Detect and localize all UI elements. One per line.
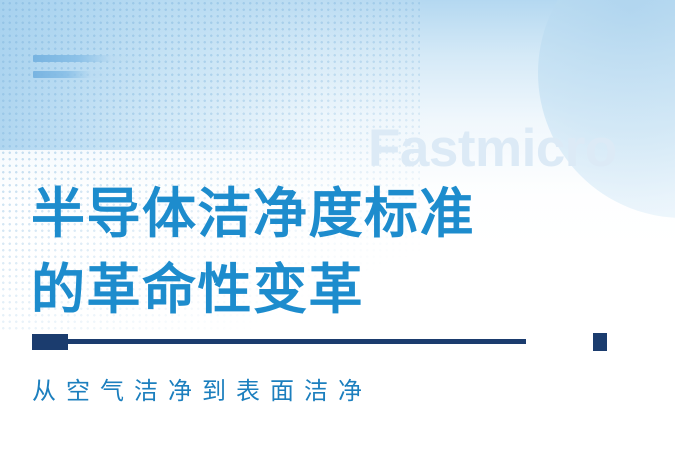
background-gradient-left <box>0 0 430 150</box>
page-title: 半导体洁净度标准 的革命性变革 <box>31 176 475 328</box>
decorative-circle <box>538 0 675 218</box>
divider-dash <box>593 333 607 351</box>
brand-watermark: Fastmicro <box>368 122 617 175</box>
title-card: Fastmicro 半导体洁净度标准 的革命性变革 从空气洁净到表面洁净 <box>0 0 675 455</box>
divider <box>32 333 607 351</box>
decorative-bar-top <box>33 55 139 62</box>
decorative-bars <box>33 55 139 78</box>
page-subtitle: 从空气洁净到表面洁净 <box>32 375 372 409</box>
divider-block <box>32 334 68 350</box>
page-title-line-2: 的革命性变革 <box>31 252 475 328</box>
decorative-bar-bottom <box>33 71 111 78</box>
page-title-line-1: 半导体洁净度标准 <box>31 176 475 252</box>
divider-line <box>68 339 526 344</box>
